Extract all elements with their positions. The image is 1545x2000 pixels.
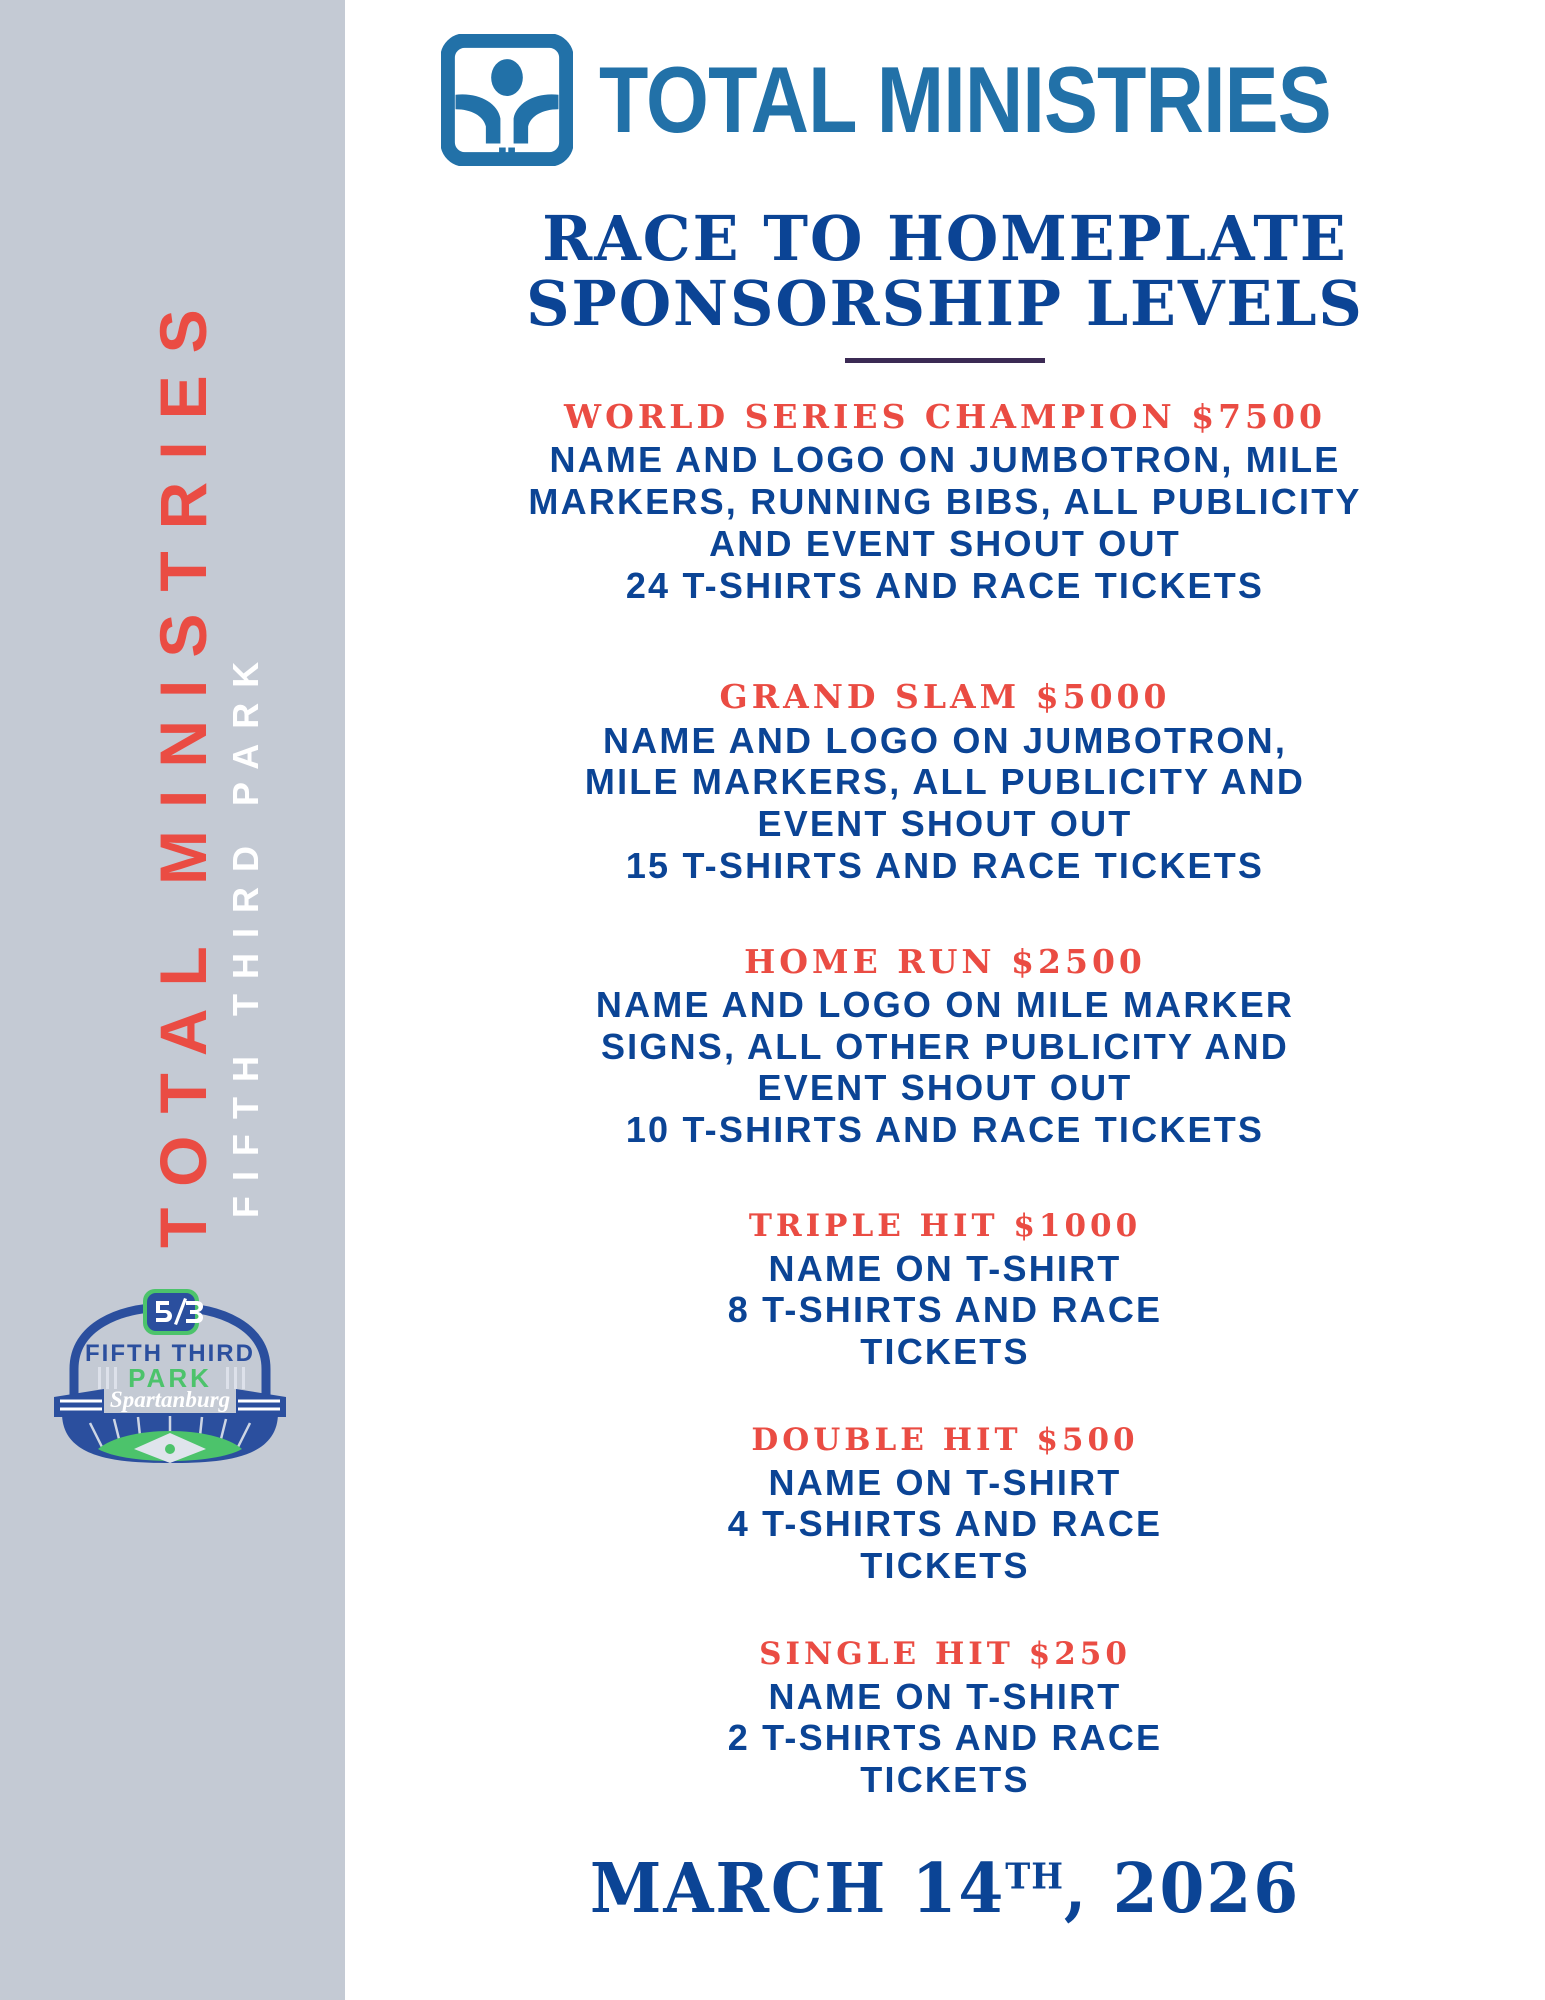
tier-benefit-line: TICKETS (345, 1759, 1545, 1801)
sidebar-venue-vertical-text: FIFTH THIRD PARK (228, 647, 264, 1218)
event-date-year: , 2026 (1064, 1849, 1300, 1929)
tier-benefit-line: EVENT SHOUT OUT (345, 803, 1545, 845)
sponsorship-tier: WORLD SERIES CHAMPION $7500 NAME AND LOG… (345, 396, 1545, 606)
tier-title: DOUBLE HIT $500 (345, 1421, 1545, 1460)
tier-benefit-line: 2 T-SHIRTS AND RACE (345, 1717, 1545, 1759)
header-logo-row: TOTAL MINISTRIES (345, 34, 1545, 166)
tier-benefit-line: NAME ON T-SHIRT (345, 1248, 1545, 1290)
tier-benefit-line: AND EVENT SHOUT OUT (345, 523, 1545, 565)
tier-benefit-line: TICKETS (345, 1331, 1545, 1373)
tier-benefit-line: 4 T-SHIRTS AND RACE (345, 1503, 1545, 1545)
tier-benefit-line: NAME AND LOGO ON JUMBOTRON, (345, 720, 1545, 762)
tier-benefits: NAME AND LOGO ON MILE MARKER SIGNS, ALL … (345, 982, 1545, 1151)
page-title-line-2: SPONSORSHIP LEVELS (363, 271, 1527, 336)
tier-benefit-line: MILE MARKERS, ALL PUBLICITY AND (345, 761, 1545, 803)
tier-benefit-line: NAME AND LOGO ON JUMBOTRON, MILE (345, 439, 1545, 481)
total-ministries-mark-icon (441, 34, 573, 166)
title-divider (345, 358, 1545, 363)
tier-benefit-line: 24 T-SHIRTS AND RACE TICKETS (345, 565, 1545, 607)
tier-benefit-line: EVENT SHOUT OUT (345, 1067, 1545, 1109)
left-sidebar: TOTAL MINISTRIES FIFTH THIRD PARK FIFTH … (0, 0, 345, 2000)
tier-benefit-line: NAME ON T-SHIRT (345, 1462, 1545, 1504)
flyer-main-column: TOTAL MINISTRIES RACE TO HOMEPLATE SPONS… (345, 0, 1545, 2000)
tier-title: SINGLE HIT $250 (345, 1635, 1545, 1674)
tier-benefit-line: MARKERS, RUNNING BIBS, ALL PUBLICITY (345, 481, 1545, 523)
sponsorship-tier: DOUBLE HIT $500 NAME ON T-SHIRT 4 T-SHIR… (345, 1421, 1545, 1587)
tier-benefits: NAME ON T-SHIRT 4 T-SHIRTS AND RACE TICK… (345, 1460, 1545, 1587)
total-ministries-wordmark: TOTAL MINISTRIES (599, 53, 1331, 147)
tier-benefit-line: 8 T-SHIRTS AND RACE (345, 1289, 1545, 1331)
event-date-month-day: MARCH 14 (590, 1849, 1005, 1929)
tier-benefits: NAME AND LOGO ON JUMBOTRON, MILE MARKERS… (345, 718, 1545, 887)
tier-title: HOME RUN $2500 (345, 941, 1545, 982)
tier-benefit-line: 15 T-SHIRTS AND RACE TICKETS (345, 845, 1545, 887)
sidebar-vertical-text-group: TOTAL MINISTRIES FIFTH THIRD PARK (0, 0, 345, 2000)
sponsorship-tier: SINGLE HIT $250 NAME ON T-SHIRT 2 T-SHIR… (345, 1635, 1545, 1801)
page-title-line-1: RACE TO HOMEPLATE (363, 206, 1527, 271)
tier-title: TRIPLE HIT $1000 (345, 1207, 1545, 1246)
sponsorship-tier: HOME RUN $2500 NAME AND LOGO ON MILE MAR… (345, 941, 1545, 1151)
fifth-third-park-logo-icon: FIFTH THIRD PARK Spartanburg (40, 1283, 300, 1463)
tier-benefits: NAME AND LOGO ON JUMBOTRON, MILE MARKERS… (345, 437, 1545, 606)
tier-benefits: NAME ON T-SHIRT 8 T-SHIRTS AND RACE TICK… (345, 1246, 1545, 1373)
tier-benefit-line: NAME ON T-SHIRT (345, 1676, 1545, 1718)
svg-text:Spartanburg: Spartanburg (110, 1387, 230, 1412)
tier-benefits: NAME ON T-SHIRT 2 T-SHIRTS AND RACE TICK… (345, 1674, 1545, 1801)
page-title: RACE TO HOMEPLATE SPONSORSHIP LEVELS (345, 206, 1545, 336)
tier-benefit-line: 10 T-SHIRTS AND RACE TICKETS (345, 1109, 1545, 1151)
tier-title: WORLD SERIES CHAMPION $7500 (345, 396, 1545, 437)
tier-title: GRAND SLAM $5000 (345, 676, 1545, 717)
event-date-ordinal: TH (1005, 1856, 1064, 1897)
tier-benefit-line: SIGNS, ALL OTHER PUBLICITY AND (345, 1026, 1545, 1068)
sidebar-brand-vertical-text: TOTAL MINISTRIES (150, 287, 216, 1248)
tier-benefit-line: NAME AND LOGO ON MILE MARKER (345, 984, 1545, 1026)
sponsorship-tier: GRAND SLAM $5000 NAME AND LOGO ON JUMBOT… (345, 676, 1545, 886)
sponsorship-tier-list: WORLD SERIES CHAMPION $7500 NAME AND LOG… (345, 396, 1545, 1801)
tier-benefit-line: TICKETS (345, 1545, 1545, 1587)
sponsorship-tier: TRIPLE HIT $1000 NAME ON T-SHIRT 8 T-SHI… (345, 1207, 1545, 1373)
divider-rule (845, 358, 1045, 363)
event-date: MARCH 14TH, 2026 (375, 1849, 1515, 1929)
